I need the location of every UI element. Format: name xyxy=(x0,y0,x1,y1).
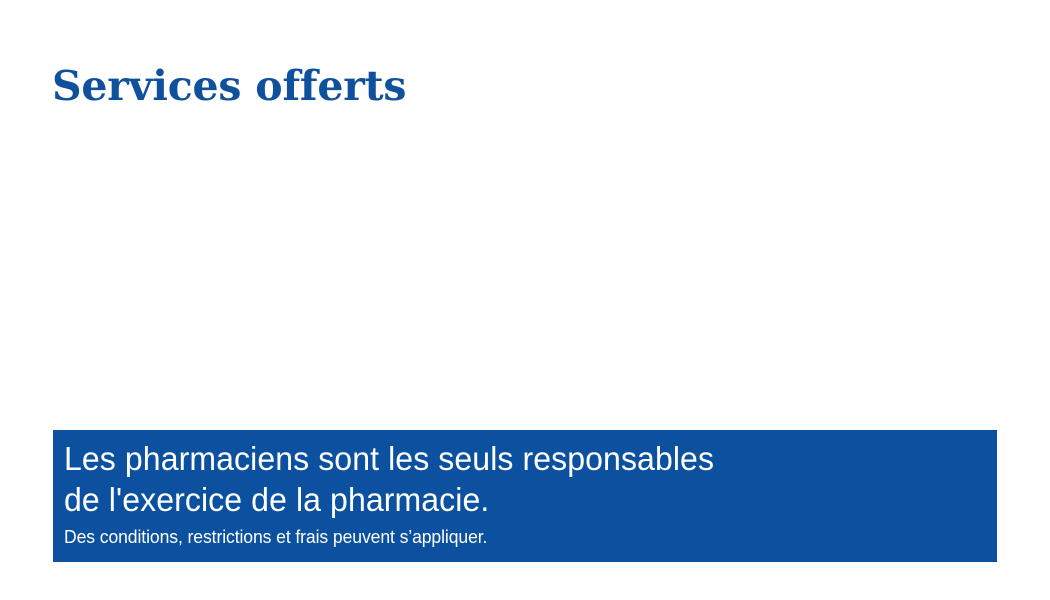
presentation-slide: Services offerts Les pharmaciens sont le… xyxy=(0,0,1050,600)
slide-content-area xyxy=(53,130,997,420)
callout-subnote: Des conditions, restrictions et frais pe… xyxy=(64,525,950,548)
callout-headline-line-2: de l'exercice de la pharmacie. xyxy=(64,479,969,520)
callout-headline-line-1: Les pharmaciens sont les seuls responsab… xyxy=(64,438,969,479)
page-title: Services offerts xyxy=(52,60,406,112)
callout-banner: Les pharmaciens sont les seuls responsab… xyxy=(53,430,997,562)
callout-headline: Les pharmaciens sont les seuls responsab… xyxy=(64,438,969,520)
